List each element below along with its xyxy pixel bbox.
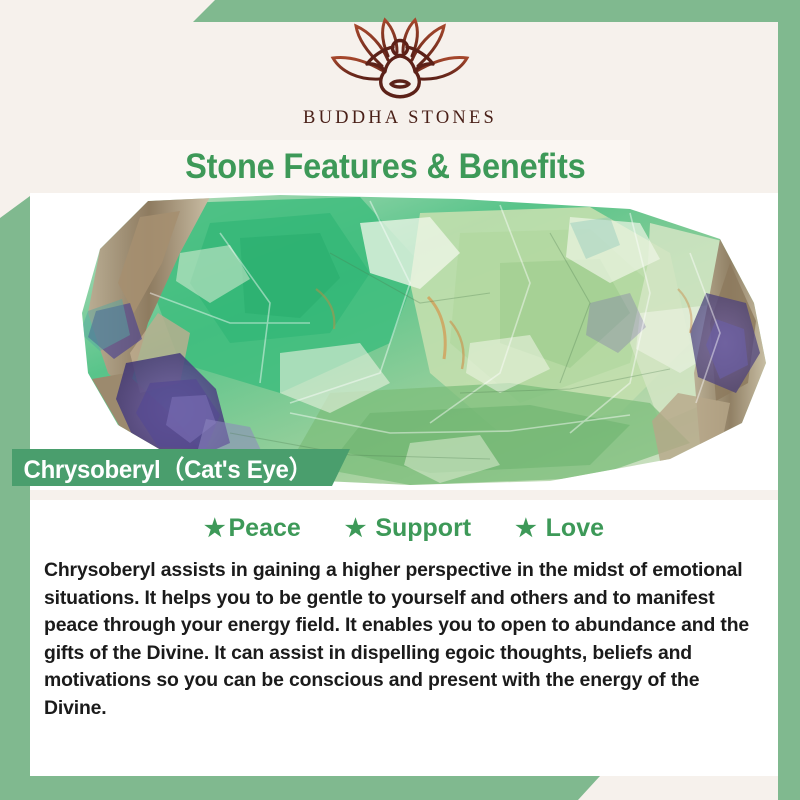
frame-bottom-bar — [0, 776, 800, 800]
title-banner: Stone Features & Benefits — [140, 140, 630, 193]
page-title: Stone Features & Benefits — [185, 147, 586, 187]
brand-header: BUDDHA STONES — [0, 0, 800, 140]
star-icon: ★ — [345, 517, 367, 541]
stone-name-banner: Chrysoberyl（Cat's Eye） — [12, 449, 350, 486]
benefit-label: Support — [375, 514, 471, 543]
stone-name: Chrysoberyl（Cat's Eye） — [12, 450, 312, 486]
benefits-row: ★ Peace ★ Support ★ Love — [30, 500, 778, 543]
benefit-label: Love — [546, 514, 604, 543]
star-icon: ★ — [204, 517, 226, 541]
benefit-item-love: ★ Love — [515, 514, 604, 543]
content-panel: ★ Peace ★ Support ★ Love Chrysoberyl ass… — [30, 500, 778, 776]
lotus-meditation-icon — [325, 16, 475, 102]
stone-description: Chrysoberyl assists in gaining a higher … — [30, 557, 778, 722]
benefit-label: Peace — [229, 514, 301, 543]
star-icon: ★ — [515, 517, 537, 541]
benefit-item-support: ★ Support — [345, 514, 471, 543]
brand-name: BUDDHA STONES — [303, 108, 497, 129]
benefit-item-peace: ★ Peace — [204, 514, 301, 543]
stone-photo — [30, 193, 778, 490]
infographic-page: BUDDHA STONES Stone Features & Benefits — [0, 0, 800, 800]
